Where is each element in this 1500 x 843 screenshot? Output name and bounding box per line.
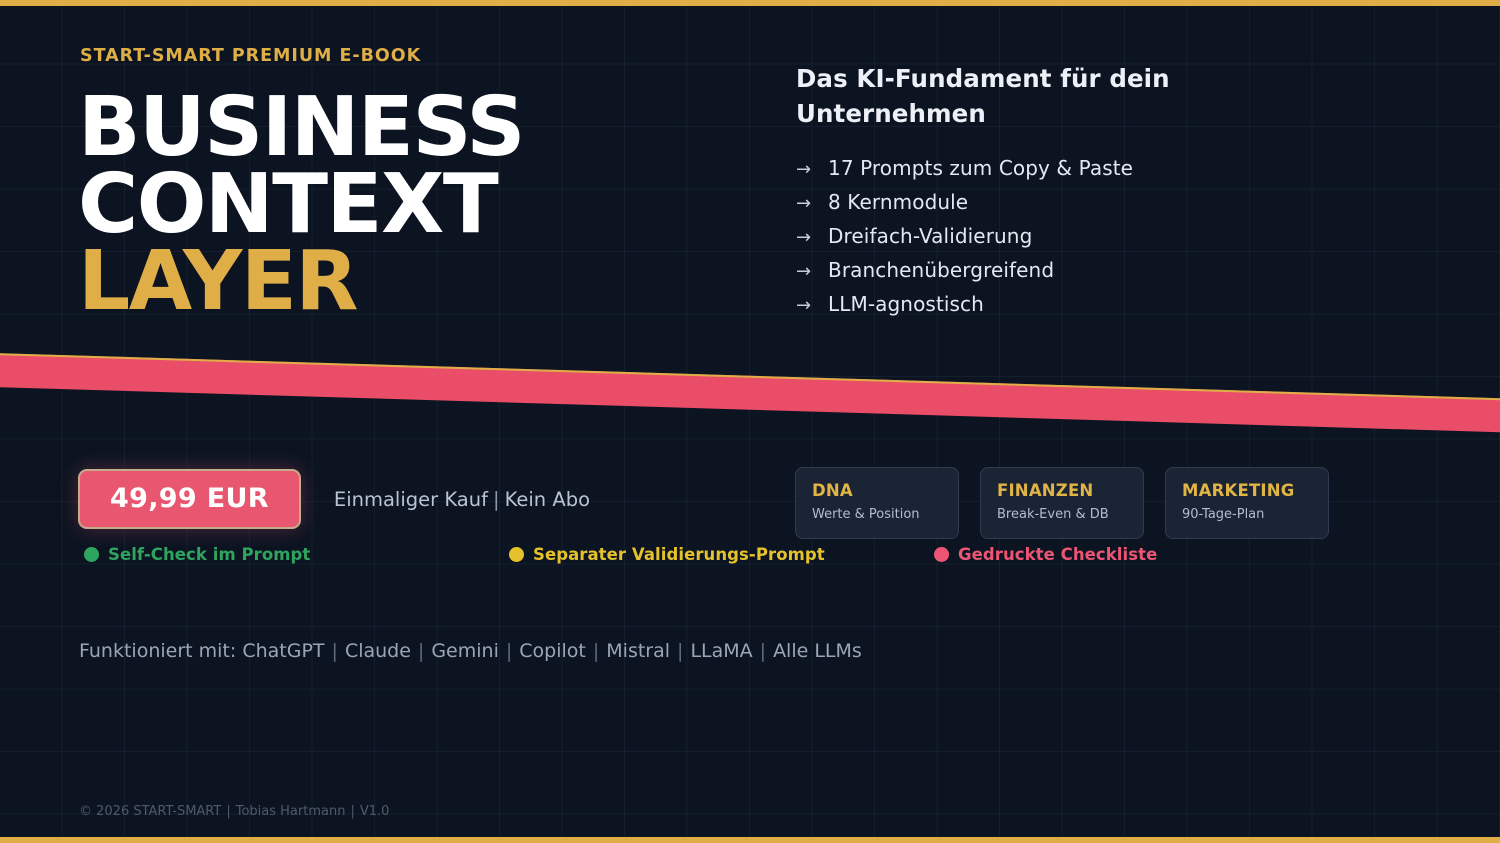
list-item: → Branchenübergreifend (796, 258, 1226, 282)
llm-name: Claude (345, 640, 411, 662)
separator: | (325, 640, 345, 662)
feature-label: Dreifach-Validierung (828, 224, 1032, 248)
diagonal-accent-stripe (0, 352, 1500, 434)
llm-name: ChatGPT (242, 640, 324, 662)
legend-label: Separater Validierungs-Prompt (533, 545, 825, 564)
purchase-term-one-time: Einmaliger Kauf (334, 488, 488, 511)
llm-name: Copilot (519, 640, 586, 662)
module-card-dna[interactable]: DNA Werte & Position (795, 467, 959, 539)
list-item: → LLM-agnostisch (796, 292, 1226, 316)
separator: | (670, 640, 690, 662)
separator: | (488, 488, 505, 511)
legend-item-validation-prompt: Separater Validierungs-Prompt (509, 545, 934, 564)
module-card-subtitle: Werte & Position (812, 507, 942, 522)
list-item: → 17 Prompts zum Copy & Paste (796, 156, 1226, 180)
module-card-subtitle: Break-Even & DB (997, 507, 1127, 522)
separator: | (345, 804, 359, 819)
status-dot-icon (934, 547, 949, 562)
module-card-marketing[interactable]: MARKETING 90-Tage-Plan (1165, 467, 1329, 539)
feature-label: LLM-agnostisch (828, 292, 984, 316)
module-card-group: DNA Werte & Position FINANZEN Break-Even… (795, 467, 1329, 539)
feature-panel-title: Das KI-Fundament für dein Unternehmen (796, 62, 1226, 132)
separator: | (753, 640, 773, 662)
llm-name: LLaMA (690, 640, 752, 662)
separator: | (411, 640, 431, 662)
feature-panel: Das KI-Fundament für dein Unternehmen → … (796, 62, 1226, 326)
feature-label: 8 Kernmodule (828, 190, 968, 214)
separator: | (221, 804, 235, 819)
feature-label: 17 Prompts zum Copy & Paste (828, 156, 1133, 180)
separator: | (586, 640, 606, 662)
headline-line-3: LAYER (78, 242, 524, 323)
bottom-accent-bar (0, 837, 1500, 843)
arrow-right-icon: → (796, 261, 828, 282)
price-badge[interactable]: 49,99 EUR (78, 469, 301, 529)
arrow-right-icon: → (796, 193, 828, 214)
module-card-finanzen[interactable]: FINANZEN Break-Even & DB (980, 467, 1144, 539)
legend: Self-Check im Prompt Separater Validieru… (84, 545, 1174, 564)
separator: | (499, 640, 519, 662)
legend-label: Self-Check im Prompt (108, 545, 310, 564)
footer-copyright: © 2026 START-SMART (79, 804, 221, 819)
footer-version: V1.0 (360, 804, 390, 819)
poster-canvas: START-SMART PREMIUM E-BOOK BUSINESS CONT… (0, 0, 1500, 843)
arrow-right-icon: → (796, 295, 828, 316)
status-dot-icon (509, 547, 524, 562)
llm-name: Alle LLMs (773, 640, 862, 662)
module-card-title: MARKETING (1182, 481, 1312, 500)
arrow-right-icon: → (796, 227, 828, 248)
module-card-title: DNA (812, 481, 942, 500)
llm-name: Mistral (606, 640, 670, 662)
list-item: → Dreifach-Validierung (796, 224, 1226, 248)
status-dot-icon (84, 547, 99, 562)
purchase-term-no-subscription: Kein Abo (505, 488, 590, 511)
price-row: 49,99 EUR Einmaliger Kauf|Kein Abo (78, 469, 590, 529)
arrow-right-icon: → (796, 159, 828, 180)
feature-label: Branchenübergreifend (828, 258, 1054, 282)
top-accent-bar (0, 0, 1500, 6)
llm-compatibility-line: Funktioniert mit: ChatGPT|Claude|Gemini|… (79, 640, 862, 662)
footer: © 2026 START-SMART|Tobias Hartmann|V1.0 (79, 804, 389, 819)
module-card-subtitle: 90-Tage-Plan (1182, 507, 1312, 522)
page-title: BUSINESS CONTEXT LAYER (78, 88, 524, 318)
module-card-title: FINANZEN (997, 481, 1127, 500)
legend-item-self-check: Self-Check im Prompt (84, 545, 509, 564)
legend-item-printed-checklist: Gedruckte Checkliste (934, 545, 1157, 564)
footer-author: Tobias Hartmann (236, 804, 346, 819)
eyebrow-label: START-SMART PREMIUM E-BOOK (80, 46, 421, 66)
legend-label: Gedruckte Checkliste (958, 545, 1157, 564)
compatibility-prefix: Funktioniert mit: (79, 640, 242, 662)
purchase-terms: Einmaliger Kauf|Kein Abo (334, 488, 590, 511)
list-item: → 8 Kernmodule (796, 190, 1226, 214)
llm-name: Gemini (431, 640, 499, 662)
